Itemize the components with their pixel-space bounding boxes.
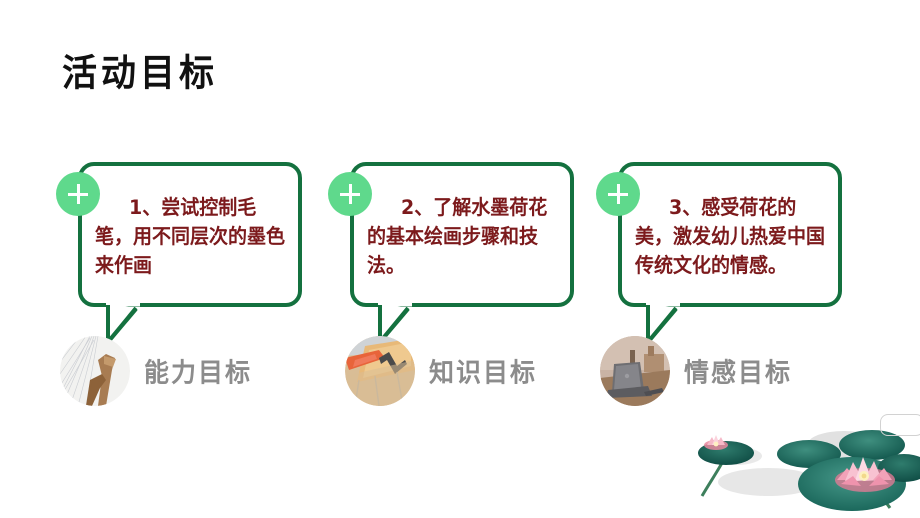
footer-item-2[interactable]: 知识目标 [345,336,537,406]
workbench-photo-icon [345,336,415,406]
objective-text-1: 1、尝试控制毛笔，用不同层次的墨色来作画 [95,194,290,281]
image-placeholder-frame [880,414,920,436]
plus-icon-bar [340,193,360,196]
footer-label-3: 情感目标 [684,352,792,390]
plus-badge-3[interactable] [596,172,640,216]
laptop-desk-photo-icon [600,336,670,406]
objective-group-3[interactable]: 3、感受荷花的美，激发幼儿热爱中国传统文化的情感。 [618,162,842,307]
objective-group-1[interactable]: 1、尝试控制毛笔，用不同层次的墨色来作画 [78,162,302,307]
page-title: 活动目标 [62,56,218,93]
plus-icon-bar [68,193,88,196]
slide-canvas: 活动目标 1、尝试控制毛笔，用不同层次的墨色来作画 2、了解水墨荷花的基本绘画步… [0,0,920,518]
objective-group-2[interactable]: 2、了解水墨荷花的基本绘画步骤和技法。 [350,162,574,307]
plus-badge-2[interactable] [328,172,372,216]
objective-bubble-1[interactable]: 1、尝试控制毛笔，用不同层次的墨色来作画 [78,162,302,307]
plus-icon-bar [608,193,628,196]
plus-badge-1[interactable] [56,172,100,216]
objective-bubble-2[interactable]: 2、了解水墨荷花的基本绘画步骤和技法。 [350,162,574,307]
objective-text-2: 2、了解水墨荷花的基本绘画步骤和技法。 [367,194,562,281]
footer-item-1[interactable]: 能力目标 [60,336,252,406]
objective-text-3: 3、感受荷花的美，激发幼儿热爱中国传统文化的情感。 [635,194,830,281]
footer-label-1: 能力目标 [144,352,252,390]
footer-label-2: 知识目标 [429,352,537,390]
objective-bubble-3[interactable]: 3、感受荷花的美，激发幼儿热爱中国传统文化的情感。 [618,162,842,307]
footer-item-3[interactable]: 情感目标 [600,336,792,406]
bridge-photo-icon [60,336,130,406]
